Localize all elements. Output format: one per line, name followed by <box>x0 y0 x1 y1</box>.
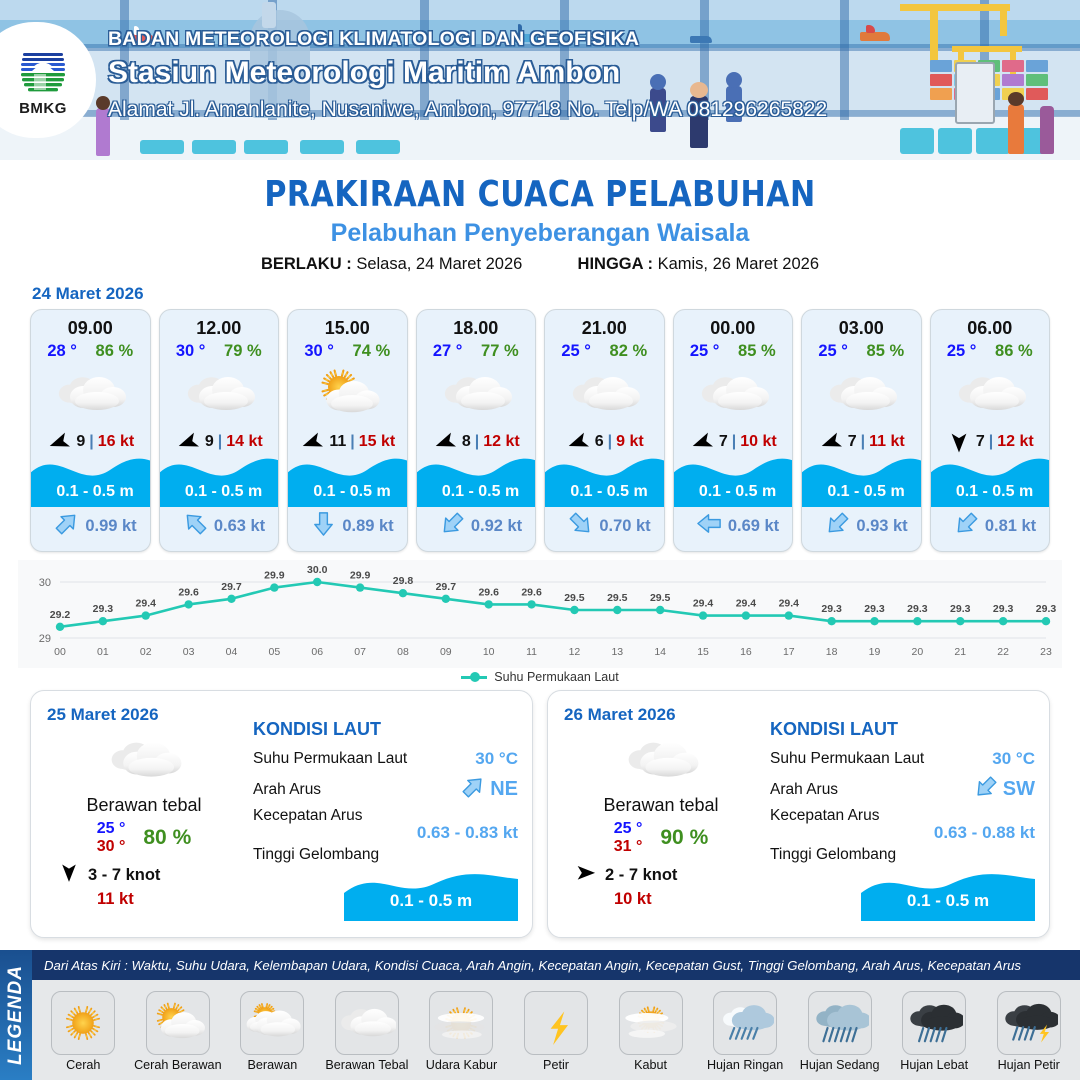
legend-item-label: Petir <box>543 1058 569 1072</box>
legend-bar: LEGENDA Dari Atas Kiri : Waktu, Suhu Uda… <box>0 950 1080 1080</box>
card-temperature: 30 ° <box>304 342 334 361</box>
current-speed: 0.69 kt <box>728 517 779 536</box>
day-weather-icon <box>566 729 756 791</box>
card-time: 03.00 <box>802 310 921 339</box>
svg-text:29: 29 <box>39 633 51 645</box>
day-temp-min: 25 ° <box>97 820 126 838</box>
legend-item: Cerah Berawan <box>131 991 226 1072</box>
wave-height-label: Tinggi Gelombang <box>253 846 379 864</box>
current-speed-value: 0.63 - 0.88 kt <box>770 823 1035 843</box>
svg-text:10: 10 <box>483 646 495 658</box>
day-temp-max: 31 ° <box>614 838 643 856</box>
svg-text:29.5: 29.5 <box>607 592 628 604</box>
legend-item-label: Cerah <box>66 1058 100 1072</box>
legend-item-label: Udara Kabur <box>426 1058 497 1072</box>
title-block: PRAKIRAAN CUACA PELABUHAN Pelabuhan Peny… <box>0 174 1080 274</box>
svg-text:04: 04 <box>226 646 238 658</box>
svg-text:29.3: 29.3 <box>93 603 114 615</box>
day-temp-max: 30 ° <box>97 838 126 856</box>
legend-icon-hujan-ringan <box>713 991 777 1055</box>
card-temperature: 28 ° <box>47 342 77 361</box>
day-wave-height: 0.1 - 0.5 m <box>861 891 1035 911</box>
svg-text:29.4: 29.4 <box>736 598 757 610</box>
card-temperature: 25 ° <box>690 342 720 361</box>
day-wave-graphic: 0.1 - 0.5 m <box>770 869 1035 921</box>
page-title: PRAKIRAAN CUACA PELABUHAN <box>38 174 1042 215</box>
card-temperature: 25 ° <box>818 342 848 361</box>
card-time: 21.00 <box>545 310 664 339</box>
card-weather-icon <box>802 363 921 425</box>
station-name: Stasiun Meteorologi Maritim Ambon <box>108 56 827 90</box>
day-wave-height: 0.1 - 0.5 m <box>344 891 518 911</box>
card-humidity: 79 % <box>224 342 262 361</box>
current-direction-value: SW <box>1003 778 1035 801</box>
legend-item-label: Hujan Lebat <box>900 1058 968 1072</box>
day-humidity: 90 % <box>660 826 708 850</box>
svg-text:08: 08 <box>397 646 409 658</box>
svg-text:19: 19 <box>869 646 881 658</box>
hourly-card: 06.00 25 ° 86 % 7 | 12 kt 0.1 - 0.5 m <box>930 309 1051 552</box>
svg-text:29.2: 29.2 <box>50 609 71 621</box>
svg-text:29.5: 29.5 <box>564 592 585 604</box>
legend-item-label: Kabut <box>634 1058 667 1072</box>
legend-item: Hujan Sedang <box>792 991 887 1072</box>
validity-line: BERLAKU : Selasa, 24 Maret 2026 HINGGA :… <box>0 255 1080 274</box>
current-speed: 0.92 kt <box>471 517 522 536</box>
legend-item-label: Hujan Sedang <box>800 1058 880 1072</box>
svg-text:11: 11 <box>526 646 537 658</box>
agency-name: BADAN METEOROLOGI KLIMATOLOGI DAN GEOFIS… <box>108 28 827 51</box>
svg-text:30.0: 30.0 <box>307 564 328 576</box>
wave-height: 0.1 - 0.5 m <box>545 483 665 501</box>
svg-text:29.4: 29.4 <box>136 598 157 610</box>
svg-text:20: 20 <box>912 646 924 658</box>
chart-legend: Suhu Permukaan Laut <box>0 670 1080 684</box>
card-weather-icon <box>931 363 1050 425</box>
current-speed: 0.93 kt <box>856 517 907 536</box>
legend-item-label: Cerah Berawan <box>134 1058 222 1072</box>
svg-text:12: 12 <box>569 646 581 658</box>
legend-icon-kabut <box>619 991 683 1055</box>
card-temperature: 27 ° <box>433 342 463 361</box>
svg-text:29.7: 29.7 <box>221 581 242 593</box>
legend-item: Hujan Ringan <box>698 991 793 1072</box>
wave-height-label: Tinggi Gelombang <box>770 846 896 864</box>
day-current-arrow-icon <box>973 774 999 805</box>
svg-text:29.4: 29.4 <box>779 598 800 610</box>
svg-text:29.7: 29.7 <box>436 581 457 593</box>
current-direction-arrow-icon <box>824 510 851 542</box>
card-time: 18.00 <box>417 310 536 339</box>
card-humidity: 86 % <box>96 342 134 361</box>
page-subtitle: Pelabuhan Penyeberangan Waisala <box>0 219 1080 248</box>
hingga-label: HINGGA : <box>578 255 653 273</box>
legend-icon-petir <box>524 991 588 1055</box>
svg-text:29.3: 29.3 <box>950 603 971 615</box>
svg-text:29.9: 29.9 <box>350 570 371 582</box>
berlaku-value: Selasa, 24 Maret 2026 <box>356 255 522 273</box>
svg-text:29.3: 29.3 <box>821 603 842 615</box>
legend-item: Berawan Tebal <box>320 991 415 1072</box>
svg-text:29.8: 29.8 <box>393 575 414 587</box>
day-wave-graphic: 0.1 - 0.5 m <box>253 869 518 921</box>
daily-forecast-panel: 25 Maret 2026 Berawan tebal 25 ° 30 ° 80… <box>30 690 533 938</box>
hourly-card: 03.00 25 ° 85 % 7 | 11 kt 0.1 - 0.5 m <box>801 309 922 552</box>
berlaku-label: BERLAKU : <box>261 255 352 273</box>
card-time: 15.00 <box>288 310 407 339</box>
svg-text:29.3: 29.3 <box>993 603 1014 615</box>
bmkg-emblem-icon <box>16 44 70 98</box>
wave-height: 0.1 - 0.5 m <box>288 483 408 501</box>
sea-condition-title: KONDISI LAUT <box>770 719 1035 740</box>
svg-text:29.6: 29.6 <box>178 586 199 598</box>
legend-icon-berawan-tebal <box>335 991 399 1055</box>
hourly-card: 15.00 30 ° 74 % 11 | 15 kt 0.1 - 0.5 m <box>287 309 408 552</box>
legend-icon-hujan-petir <box>997 991 1061 1055</box>
current-speed: 0.99 kt <box>85 517 136 536</box>
svg-text:22: 22 <box>997 646 1009 658</box>
sst-label: Suhu Permukaan Laut <box>770 750 924 768</box>
day-humidity: 80 % <box>143 826 191 850</box>
day-wind-direction-arrow-icon <box>57 863 81 888</box>
legend-item-label: Berawan <box>248 1058 298 1072</box>
legend-item-label: Hujan Ringan <box>707 1058 783 1072</box>
day-weather-icon <box>49 729 239 791</box>
legend-item: Udara Kabur <box>414 991 509 1072</box>
svg-text:21: 21 <box>954 646 966 658</box>
wave-height: 0.1 - 0.5 m <box>674 483 794 501</box>
wave-height: 0.1 - 0.5 m <box>931 483 1051 501</box>
legend-item: Cerah <box>36 991 131 1072</box>
svg-text:17: 17 <box>783 646 795 658</box>
svg-text:23: 23 <box>1040 646 1052 658</box>
card-time: 06.00 <box>931 310 1050 339</box>
svg-text:07: 07 <box>354 646 366 658</box>
current-speed: 0.81 kt <box>985 517 1036 536</box>
current-direction-arrow-icon <box>567 510 594 542</box>
legend-item: Berawan <box>225 991 320 1072</box>
card-humidity: 74 % <box>353 342 391 361</box>
day-temp-min: 25 ° <box>614 820 643 838</box>
wave-height: 0.1 - 0.5 m <box>31 483 151 501</box>
sst-value: 30 °C <box>475 749 518 769</box>
card-humidity: 86 % <box>995 342 1033 361</box>
svg-text:02: 02 <box>140 646 152 658</box>
card-humidity: 82 % <box>610 342 648 361</box>
wave-height: 0.1 - 0.5 m <box>802 483 922 501</box>
legend-item: Petir <box>509 991 604 1072</box>
legend-item: Hujan Petir <box>981 991 1076 1072</box>
svg-text:29.9: 29.9 <box>264 570 285 582</box>
wave-height: 0.1 - 0.5 m <box>417 483 537 501</box>
legend-icon-hujan-lebat <box>902 991 966 1055</box>
current-direction-arrow-icon <box>696 510 723 542</box>
legend-note: Dari Atas Kiri : Waktu, Suhu Udara, Kele… <box>32 950 1080 980</box>
legend-icon-hujan-sedang <box>808 991 872 1055</box>
svg-text:29.6: 29.6 <box>478 586 499 598</box>
current-speed: 0.70 kt <box>599 517 650 536</box>
svg-text:29.3: 29.3 <box>1036 603 1057 615</box>
chart-legend-label: Suhu Permukaan Laut <box>494 670 618 684</box>
current-speed-value: 0.63 - 0.83 kt <box>253 823 518 843</box>
legend-icon-cerah <box>51 991 115 1055</box>
hingga-value: Kamis, 26 Maret 2026 <box>658 255 819 273</box>
card-weather-icon <box>160 363 279 425</box>
card-weather-icon <box>288 363 407 425</box>
card-weather-icon <box>417 363 536 425</box>
card-time: 00.00 <box>674 310 793 339</box>
legend-item-label: Berawan Tebal <box>325 1058 408 1072</box>
day-condition: Berawan tebal <box>49 795 239 816</box>
sst-label: Suhu Permukaan Laut <box>253 750 407 768</box>
current-direction-arrow-icon <box>53 510 80 542</box>
svg-text:03: 03 <box>183 646 195 658</box>
legend-items: Cerah Cerah Berawan Berawan Berawan Teba… <box>32 980 1080 1080</box>
card-humidity: 77 % <box>481 342 519 361</box>
svg-text:09: 09 <box>440 646 452 658</box>
svg-text:06: 06 <box>311 646 323 658</box>
current-speed-label: Kecepatan Arus <box>770 807 879 825</box>
svg-text:13: 13 <box>611 646 623 658</box>
svg-text:00: 00 <box>54 646 66 658</box>
card-weather-icon <box>545 363 664 425</box>
day-current-arrow-icon <box>460 774 486 805</box>
current-speed: 0.63 kt <box>214 517 265 536</box>
svg-text:15: 15 <box>697 646 709 658</box>
card-humidity: 85 % <box>738 342 776 361</box>
svg-text:05: 05 <box>269 646 281 658</box>
svg-text:01: 01 <box>97 646 109 658</box>
legend-tab: LEGENDA <box>0 950 32 1080</box>
daily-forecast-row: 25 Maret 2026 Berawan tebal 25 ° 30 ° 80… <box>0 684 1080 938</box>
current-direction-label: Arah Arus <box>253 781 321 799</box>
card-time: 12.00 <box>160 310 279 339</box>
page-header: BMKG BADAN METEOROLOGI KLIMATOLOGI DAN G… <box>0 0 1080 160</box>
card-weather-icon <box>674 363 793 425</box>
hourly-card: 09.00 28 ° 86 % 9 | 16 kt 0.1 - 0.5 m <box>30 309 151 552</box>
legend-item: Hujan Lebat <box>887 991 982 1072</box>
legend-item-label: Hujan Petir <box>998 1058 1060 1072</box>
svg-text:18: 18 <box>826 646 838 658</box>
current-direction-label: Arah Arus <box>770 781 838 799</box>
current-direction-value: NE <box>490 778 518 801</box>
svg-text:29.3: 29.3 <box>864 603 885 615</box>
card-temperature: 25 ° <box>947 342 977 361</box>
current-direction-arrow-icon <box>182 510 209 542</box>
day-wind-range: 2 - 7 knot <box>605 866 677 885</box>
svg-text:29.3: 29.3 <box>907 603 928 615</box>
day-gust: 10 kt <box>566 890 756 909</box>
svg-text:30: 30 <box>39 577 51 589</box>
legend-item: Kabut <box>603 991 698 1072</box>
current-direction-arrow-icon <box>310 510 337 542</box>
bmkg-logo-text: BMKG <box>19 100 67 117</box>
legend-icon-cerah-berawan <box>146 991 210 1055</box>
station-address: Alamat Jl. Amanlanite, Nusaniwe, Ambon, … <box>108 98 827 122</box>
legend-icon-udara-kabur <box>429 991 493 1055</box>
hourly-card: 00.00 25 ° 85 % 7 | 10 kt 0.1 - 0.5 m <box>673 309 794 552</box>
day-condition: Berawan tebal <box>566 795 756 816</box>
card-temperature: 25 ° <box>561 342 591 361</box>
day-wind-direction-arrow-icon <box>574 863 598 888</box>
chart-legend-marker-icon <box>461 676 487 679</box>
svg-text:16: 16 <box>740 646 752 658</box>
header-text-block: BADAN METEOROLOGI KLIMATOLOGI DAN GEOFIS… <box>108 28 827 122</box>
card-time: 09.00 <box>31 310 150 339</box>
hourly-card: 21.00 25 ° 82 % 6 | 9 kt 0.1 - 0.5 m <box>544 309 665 552</box>
card-temperature: 30 ° <box>176 342 206 361</box>
wave-height: 0.1 - 0.5 m <box>160 483 280 501</box>
svg-text:29.6: 29.6 <box>521 586 542 598</box>
svg-text:29.4: 29.4 <box>693 598 714 610</box>
svg-text:14: 14 <box>654 646 666 658</box>
current-direction-arrow-icon <box>439 510 466 542</box>
card-humidity: 85 % <box>867 342 905 361</box>
day-gust: 11 kt <box>49 890 239 909</box>
legend-tab-label: LEGENDA <box>5 965 27 1065</box>
legend-icon-berawan <box>240 991 304 1055</box>
daily-forecast-panel: 26 Maret 2026 Berawan tebal 25 ° 31 ° 90… <box>547 690 1050 938</box>
current-speed-label: Kecepatan Arus <box>253 807 362 825</box>
sst-value: 30 °C <box>992 749 1035 769</box>
hourly-card: 12.00 30 ° 79 % 9 | 14 kt 0.1 - 0.5 m <box>159 309 280 552</box>
hourly-forecast-row: 09.00 28 ° 86 % 9 | 16 kt 0.1 - 0.5 m <box>0 309 1080 552</box>
current-speed: 0.89 kt <box>342 517 393 536</box>
sst-chart: 29 30 29.229.329.429.629.729.930.029.929… <box>18 560 1062 672</box>
hourly-card: 18.00 27 ° 77 % 8 | 12 kt 0.1 - 0.5 m <box>416 309 537 552</box>
hourly-date-label: 24 Maret 2026 <box>32 284 1080 304</box>
card-weather-icon <box>31 363 150 425</box>
day-wind-range: 3 - 7 knot <box>88 866 160 885</box>
current-direction-arrow-icon <box>953 510 980 542</box>
svg-text:29.5: 29.5 <box>650 592 671 604</box>
sea-condition-title: KONDISI LAUT <box>253 719 518 740</box>
